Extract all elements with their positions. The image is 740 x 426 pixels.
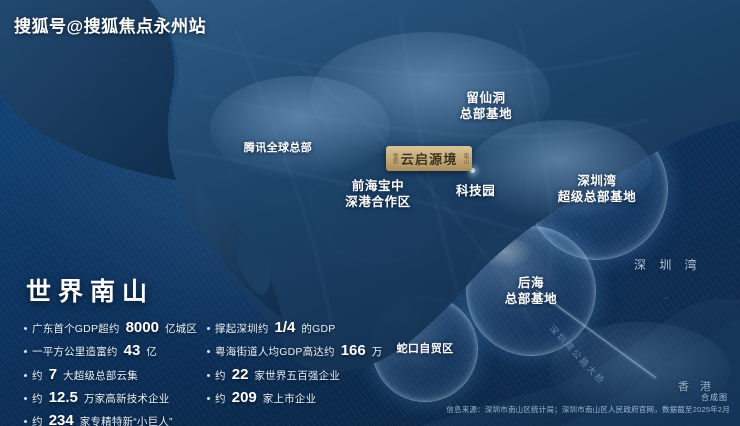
bullet-post: 万 (372, 347, 383, 359)
hub-liuxiandong-label: 留仙洞 总部基地 (460, 90, 512, 122)
info-panel: 世界南山 广东首个GDP超约 8000 亿城区 一平方公里造富约 43 亿 约 (24, 272, 364, 426)
source-note: 信息来源：深圳市南山区统计局；深圳市南山区人民政府官网，数据截至2025年2月 (446, 404, 730, 415)
hub-shekou-label: 蛇口自贸区 (397, 342, 454, 356)
bullet-number: 1/4 (274, 320, 297, 337)
hub-qianhai-label: 前海宝中 深港合作区 (345, 178, 411, 210)
bullet-pre: 约 (32, 417, 43, 426)
bullet-item: 约 12.5 万家高新技术企业 (24, 390, 197, 407)
badge-ornament-left: 壹玖 (391, 153, 397, 165)
bullet-dot (207, 350, 210, 353)
bullet-number: 8000 (125, 320, 160, 337)
bullet-item: 广东首个GDP超约 8000 亿城区 (24, 320, 197, 337)
bullet-post: 家专精特新“小巨人” (80, 417, 173, 426)
composite-note: 合成图 (701, 392, 728, 403)
panel-title: 世界南山 (26, 272, 364, 308)
bullet-item: 粤海街道人均GDP高达约 166 万 (207, 343, 365, 360)
bullet-post: 家上市企业 (263, 394, 317, 406)
bullet-item: 约 234 家专精特新“小巨人” (24, 413, 197, 426)
bullet-number: 22 (231, 367, 250, 384)
bullet-post: 的GDP (301, 324, 335, 336)
bullet-dot (24, 397, 27, 400)
hub-tencent-label: 腾讯全球总部 (244, 141, 312, 155)
bullet-number: 7 (48, 367, 58, 384)
bullet-dot (207, 397, 210, 400)
panel-bullets-left: 广东首个GDP超约 8000 亿城区 一平方公里造富约 43 亿 约 7 大超级… (24, 320, 197, 426)
bullet-pre: 约 (215, 394, 226, 406)
bullet-post: 大超级总部云集 (63, 371, 138, 383)
bullet-pre: 撑起深圳约 (215, 324, 269, 336)
bullet-dot (24, 420, 27, 423)
bullet-item: 撑起深圳约 1/4 的GDP (207, 320, 365, 337)
badge-ornament-right: 南山 (462, 153, 468, 165)
hub-houhai-label: 后海 总部基地 (505, 275, 557, 307)
bullet-item: 约 7 大超级总部云集 (24, 367, 197, 384)
bullet-dot (24, 350, 27, 353)
bullet-number: 43 (123, 343, 142, 360)
project-badge[interactable]: 壹玖 云启源境 南山 (386, 146, 472, 171)
bullet-item: 约 22 家世界五百强企业 (207, 367, 365, 384)
bullet-pre: 广东首个GDP超约 (32, 324, 120, 336)
bullet-pre: 粤海街道人均GDP高达约 (215, 347, 335, 359)
bullet-number: 209 (231, 390, 258, 407)
bullet-post: 亿 (146, 347, 157, 359)
bullet-post: 亿城区 (165, 324, 197, 336)
bullet-item: 约 209 家上市企业 (207, 390, 365, 407)
badge-title: 云启源境 (401, 149, 458, 168)
hub-shenzhenwan-label: 深圳湾 超级总部基地 (558, 173, 637, 205)
map-infographic: 搜狐号@搜狐焦点永州站 腾讯全球总部 留仙洞 总部基地 前海宝中 深港合作区 深… (0, 0, 740, 426)
bullet-dot (24, 327, 27, 330)
bullet-item: 一平方公里造富约 43 亿 (24, 343, 197, 360)
geo-label-shenzhen-bay: 深 圳 湾 (634, 256, 702, 273)
bullet-pre: 约 (32, 394, 43, 406)
bullet-post: 家世界五百强企业 (254, 371, 340, 383)
watermark-text: 搜狐号@搜狐焦点永州站 (14, 12, 206, 37)
bullet-pre: 约 (215, 371, 226, 383)
bullet-dot (207, 374, 210, 377)
bullet-post: 万家高新技术企业 (84, 394, 170, 406)
panel-bullets-right: 撑起深圳约 1/4 的GDP 粤海街道人均GDP高达约 166 万 约 22 家… (207, 320, 365, 426)
bullet-number: 166 (340, 343, 367, 360)
bullet-dot (24, 374, 27, 377)
bullet-pre: 约 (32, 371, 43, 383)
bullet-dot (207, 327, 210, 330)
keji-park-label: 科技园 (456, 180, 495, 199)
bullet-number: 12.5 (48, 390, 79, 407)
bullet-pre: 一平方公里造富约 (32, 347, 118, 359)
bullet-number: 234 (48, 413, 75, 426)
